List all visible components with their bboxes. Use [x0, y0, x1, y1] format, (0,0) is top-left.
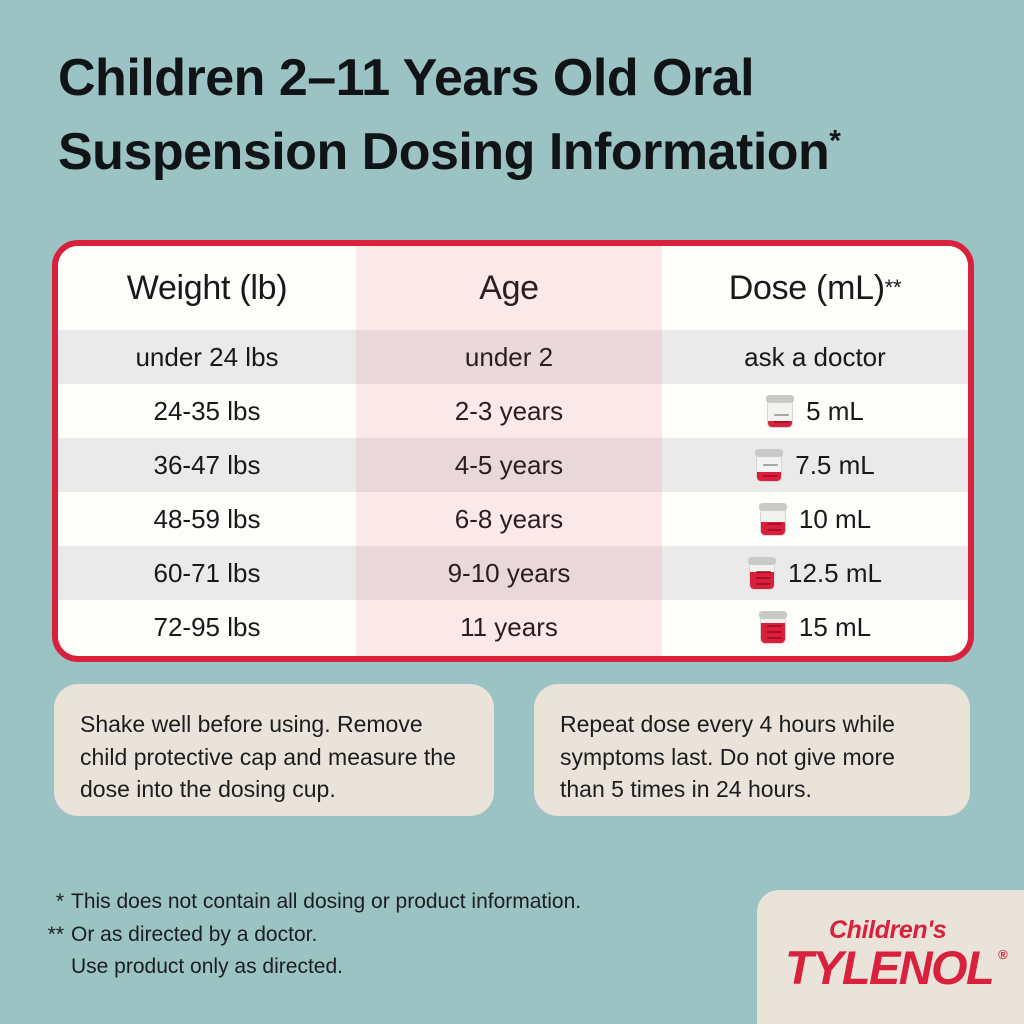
footnote-1: *This does not contain all dosing or pro…: [30, 886, 730, 919]
brand-logo-tylenol-text: TYLENOL: [785, 941, 993, 994]
footnote-3-text: Use product only as directed.: [71, 955, 343, 978]
brand-logo-tylenol: TYLENOL®: [785, 944, 993, 992]
table-row: 60-71 lbs 9-10 years 12.5 mL: [58, 546, 968, 600]
cell-dose: 15 mL: [662, 600, 968, 654]
info-box-frequency-text: Repeat dose every 4 hours while symptoms…: [560, 708, 944, 806]
cell-age: under 2: [356, 330, 662, 384]
dose-inner: 15 mL: [759, 610, 871, 644]
table-row: 24-35 lbs 2-3 years 5 mL: [58, 384, 968, 438]
registered-trademark-icon: ®: [998, 948, 1006, 961]
cell-age: 6-8 years: [356, 492, 662, 546]
table-header-row: Weight (lb) Age Dose (mL)**: [58, 246, 968, 330]
cell-age: 9-10 years: [356, 546, 662, 600]
dose-inner: ask a doctor: [744, 342, 886, 373]
table-row: 36-47 lbs 4-5 years 7.5 mL: [58, 438, 968, 492]
dose-label: ask a doctor: [744, 342, 886, 373]
info-box-frequency: Repeat dose every 4 hours while symptoms…: [534, 684, 970, 816]
dose-label: 7.5 mL: [795, 450, 875, 481]
dose-inner: 10 mL: [759, 502, 871, 536]
cell-weight: under 24 lbs: [58, 330, 356, 384]
brand-logo-panel: Children's TYLENOL®: [757, 890, 1024, 1024]
dosing-table: Weight (lb) Age Dose (mL)** under 24 lbs…: [52, 240, 974, 662]
dose-label: 12.5 mL: [788, 558, 882, 589]
cell-weight: 72-95 lbs: [58, 600, 356, 654]
dose-label: 15 mL: [799, 612, 871, 643]
footnote-1-marker: *: [30, 886, 64, 919]
footnotes: *This does not contain all dosing or pro…: [30, 886, 730, 984]
page-title-line-2-text: Suspension Dosing Information: [58, 123, 829, 181]
footnote-2-text: Or as directed by a doctor.: [71, 923, 317, 946]
cell-weight: 24-35 lbs: [58, 384, 356, 438]
dosing-cup-icon: [748, 556, 776, 590]
footnote-2-marker: **: [30, 919, 64, 952]
column-header-dose-text: Dose (mL): [729, 269, 885, 308]
dose-label: 10 mL: [799, 504, 871, 535]
page-title-line-2: Suspension Dosing Information*: [58, 116, 998, 190]
footnote-3: Use product only as directed.: [30, 951, 730, 984]
table-row: under 24 lbs under 2 ask a doctor: [58, 330, 968, 384]
column-header-weight: Weight (lb): [58, 246, 356, 330]
dose-inner: 7.5 mL: [755, 448, 875, 482]
cell-weight: 60-71 lbs: [58, 546, 356, 600]
cell-age: 2-3 years: [356, 384, 662, 438]
dosing-cup-icon: [766, 394, 794, 428]
cell-age: 11 years: [356, 600, 662, 654]
table-row: 72-95 lbs 11 years 15 mL: [58, 600, 968, 654]
table-row: 48-59 lbs 6-8 years 10 mL: [58, 492, 968, 546]
info-box-preparation: Shake well before using. Remove child pr…: [54, 684, 494, 816]
dosing-cup-icon: [759, 502, 787, 536]
footnote-1-text: This does not contain all dosing or prod…: [71, 890, 581, 913]
footnote-2: **Or as directed by a doctor.: [30, 919, 730, 952]
dose-inner: 5 mL: [766, 394, 864, 428]
cell-dose: 10 mL: [662, 492, 968, 546]
dosing-cup-icon: [755, 448, 783, 482]
title-footnote-marker: *: [829, 125, 840, 158]
cell-weight: 48-59 lbs: [58, 492, 356, 546]
dose-inner: 12.5 mL: [748, 556, 882, 590]
info-box-preparation-text: Shake well before using. Remove child pr…: [80, 708, 468, 806]
cell-weight: 36-47 lbs: [58, 438, 356, 492]
page-title-line-1: Children 2–11 Years Old Oral: [58, 42, 998, 116]
dosing-cup-icon: [759, 610, 787, 644]
column-header-dose: Dose (mL)**: [662, 246, 968, 330]
cell-dose: ask a doctor: [662, 330, 968, 384]
brand-logo: Children's TYLENOL®: [785, 918, 1000, 992]
cell-dose: 7.5 mL: [662, 438, 968, 492]
cell-dose: 12.5 mL: [662, 546, 968, 600]
cell-dose: 5 mL: [662, 384, 968, 438]
column-header-age: Age: [356, 246, 662, 330]
cell-age: 4-5 years: [356, 438, 662, 492]
brand-logo-childrens: Children's: [829, 918, 1000, 943]
dose-label: 5 mL: [806, 396, 864, 427]
page-title: Children 2–11 Years Old Oral Suspension …: [58, 42, 998, 190]
